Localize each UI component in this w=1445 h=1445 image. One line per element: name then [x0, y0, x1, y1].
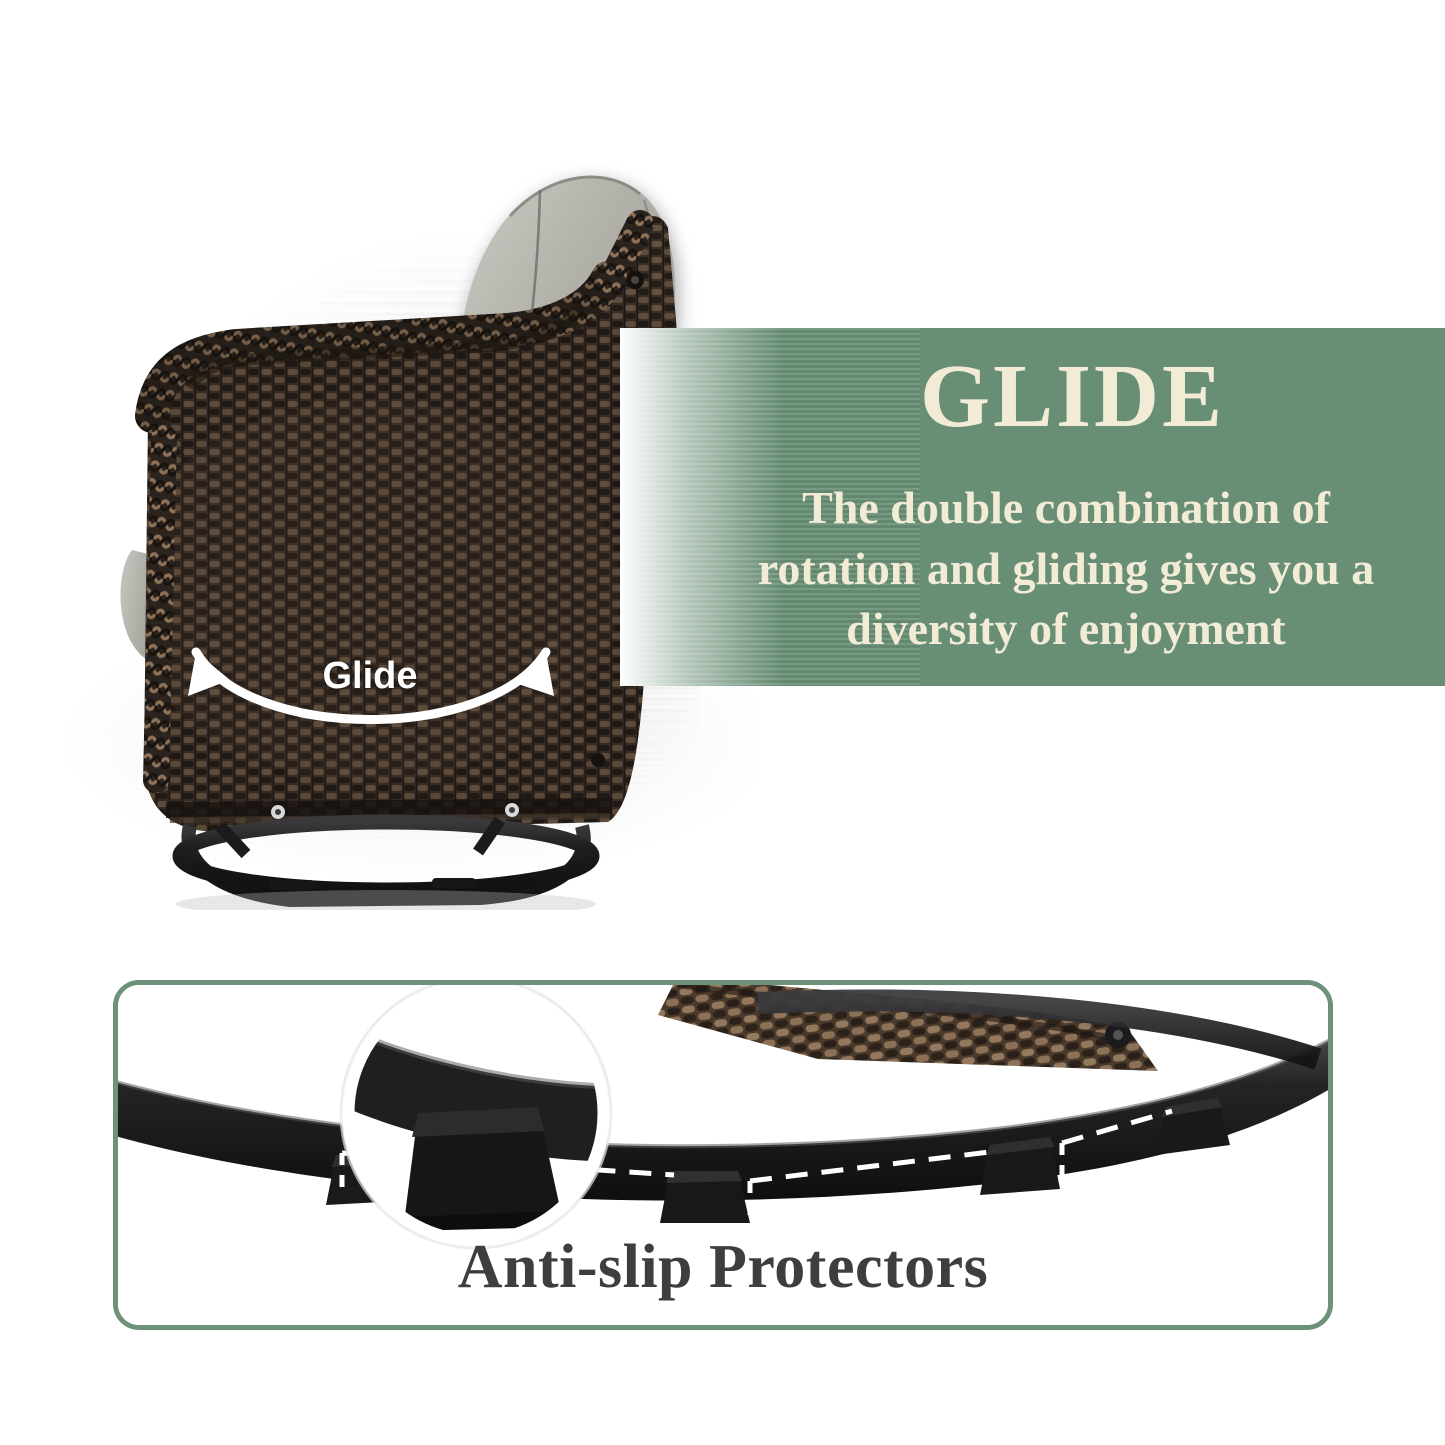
anti-slip-foot: [980, 1137, 1060, 1195]
glide-overlay-label: Glide: [160, 655, 580, 698]
green-info-panel: GLIDE The double combination of rotation…: [620, 328, 1445, 686]
anti-slip-caption: Anti-slip Protectors: [113, 1232, 1333, 1303]
glide-description-line-3: diversity of enjoyment: [715, 599, 1417, 660]
product-marketing-image: Glide GLIDE The double combination of ro…: [0, 0, 1445, 1445]
swivel-base: [176, 820, 596, 910]
product-photo-chair: [40, 120, 720, 910]
anti-slip-foot: [660, 1171, 750, 1223]
glide-description-line-1: The double combination of: [715, 478, 1417, 539]
page-title-glide: GLIDE: [620, 352, 1445, 442]
top-feature-section: Glide GLIDE The double combination of ro…: [0, 0, 1445, 940]
glide-description: The double combination of rotation and g…: [715, 478, 1417, 660]
glide-description-line-2: rotation and gliding gives you a: [715, 539, 1417, 600]
